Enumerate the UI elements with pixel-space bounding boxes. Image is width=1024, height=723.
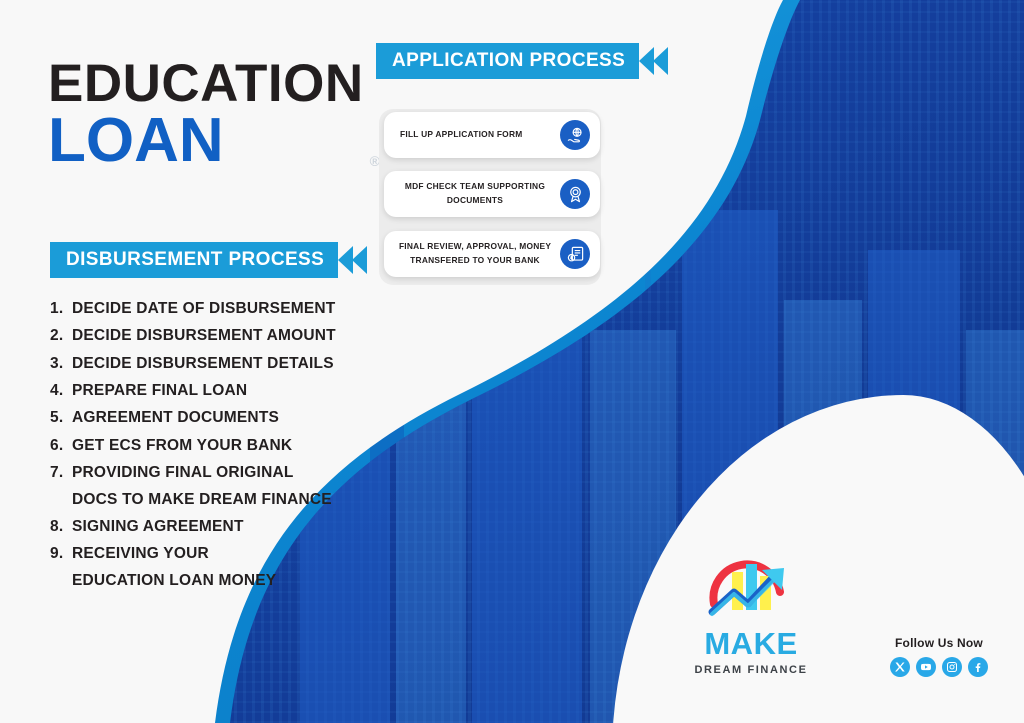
list-item: 4. PREPARE FINAL LOAN	[50, 382, 380, 400]
brand-tagline: DREAM FINANCE	[676, 664, 826, 676]
list-item: 5. AGREEMENT DOCUMENTS	[50, 409, 380, 427]
list-item-line-1: PROVIDING FINAL ORIGINAL	[72, 464, 294, 481]
list-item-number: 1.	[50, 300, 72, 318]
list-item-label: DECIDE DISBURSEMENT AMOUNT	[72, 327, 380, 345]
list-item-number: 5.	[50, 409, 72, 427]
list-item-label: DECIDE DATE OF DISBURSEMENT	[72, 300, 380, 318]
list-item: 1. DECIDE DATE OF DISBURSEMENT	[50, 300, 380, 318]
double-chevron-left-icon	[639, 43, 675, 79]
list-item-line-2: EDUCATION LOAN MONEY	[72, 572, 380, 590]
x-twitter-icon[interactable]	[890, 657, 910, 677]
disbursement-steps-list: 1. DECIDE DATE OF DISBURSEMENT 2. DECIDE…	[50, 300, 380, 599]
list-item: 9. RECEIVING YOUR EDUCATION LOAN MONEY	[50, 545, 380, 590]
list-item-label: AGREEMENT DOCUMENTS	[72, 409, 380, 427]
application-process-banner: APPLICATION PROCESS	[376, 43, 675, 79]
process-step-line-1: MDF CHECK TEAM	[405, 181, 485, 191]
list-item-number: 7.	[50, 464, 72, 509]
process-step-card[interactable]: FILL UP APPLICATION FORM	[384, 112, 600, 158]
list-item-label: DECIDE DISBURSEMENT DETAILS	[72, 355, 380, 373]
process-step-card[interactable]: MDF CHECK TEAM SUPPORTING DOCUMENTS	[384, 171, 600, 217]
list-item-number: 3.	[50, 355, 72, 373]
process-step-text: FINAL REVIEW, APPROVAL, MONEY TRANSFERED…	[384, 240, 560, 268]
list-item-label: GET ECS FROM YOUR BANK	[72, 437, 380, 455]
list-item-number: 9.	[50, 545, 72, 590]
headline-line-1: EDUCATION	[48, 58, 364, 110]
money-transfer-icon	[560, 239, 590, 269]
list-item-label: PROVIDING FINAL ORIGINAL DOCS TO MAKE DR…	[72, 464, 380, 509]
process-step-line-1: FILL UP APPLICATION FORM	[400, 129, 522, 139]
list-item: 3. DECIDE DISBURSEMENT DETAILS	[50, 355, 380, 373]
process-step-line-1: FINAL REVIEW, APPROVAL, MONEY	[399, 241, 551, 251]
headline-line-2: LOAN ®	[48, 112, 364, 171]
process-step-line-2: TRANSFERED TO YOUR BANK	[410, 255, 540, 265]
social-follow-block: Follow Us Now	[884, 636, 994, 677]
process-step-text: FILL UP APPLICATION FORM	[384, 128, 560, 142]
follow-us-label: Follow Us Now	[884, 636, 994, 650]
list-item-number: 6.	[50, 437, 72, 455]
list-item-label: PREPARE FINAL LOAN	[72, 382, 380, 400]
growth-chart-arrow-icon	[696, 548, 806, 626]
list-item: 2. DECIDE DISBURSEMENT AMOUNT	[50, 327, 380, 345]
application-process-label: APPLICATION PROCESS	[392, 50, 625, 72]
list-item: 6. GET ECS FROM YOUR BANK	[50, 437, 380, 455]
list-item-number: 8.	[50, 518, 72, 536]
globe-in-hand-icon	[560, 120, 590, 150]
instagram-icon[interactable]	[942, 657, 962, 677]
list-item-line-2: DOCS TO MAKE DREAM FINANCE	[72, 491, 380, 509]
list-item-label: SIGNING AGREEMENT	[72, 518, 380, 536]
brand-name: MAKE	[676, 628, 826, 659]
list-item: 8. SIGNING AGREEMENT	[50, 518, 380, 536]
double-chevron-left-icon	[338, 242, 374, 278]
social-icon-row	[884, 657, 994, 677]
banner-bar: DISBURSEMENT PROCESS	[50, 242, 338, 278]
brand-logo: MAKE DREAM FINANCE	[676, 548, 826, 676]
facebook-icon[interactable]	[968, 657, 988, 677]
list-item-number: 2.	[50, 327, 72, 345]
poster-canvas: EDUCATION LOAN ® APPLICATION PROCESS FIL…	[0, 0, 1024, 723]
headline-line-2-text: LOAN	[48, 106, 224, 175]
list-item: 7. PROVIDING FINAL ORIGINAL DOCS TO MAKE…	[50, 464, 380, 509]
page-title: EDUCATION LOAN ®	[48, 58, 364, 171]
list-item-line-1: RECEIVING YOUR	[72, 545, 209, 562]
award-badge-icon	[560, 179, 590, 209]
list-item-label: RECEIVING YOUR EDUCATION LOAN MONEY	[72, 545, 380, 590]
banner-bar: APPLICATION PROCESS	[376, 43, 639, 79]
process-step-text: MDF CHECK TEAM SUPPORTING DOCUMENTS	[384, 180, 560, 208]
list-item-number: 4.	[50, 382, 72, 400]
disbursement-process-label: DISBURSEMENT PROCESS	[66, 249, 324, 271]
process-step-card[interactable]: FINAL REVIEW, APPROVAL, MONEY TRANSFERED…	[384, 231, 600, 277]
youtube-icon[interactable]	[916, 657, 936, 677]
disbursement-process-banner: DISBURSEMENT PROCESS	[50, 242, 374, 278]
